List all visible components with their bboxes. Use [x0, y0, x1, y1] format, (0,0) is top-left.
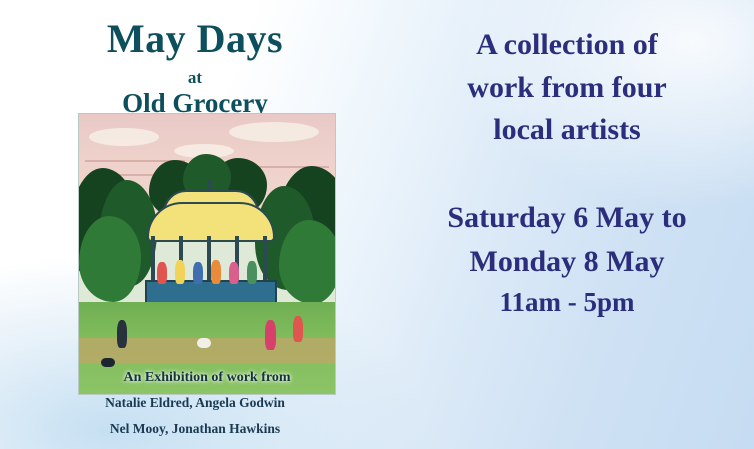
dates-line-3: 11am - 5pm [380, 283, 754, 322]
poster-image: May Days at Old Grocery 6-8 May 11am-5pm [0, 0, 754, 449]
artist-list-line-1: Natalie Eldred, Angela Godwin [0, 390, 390, 416]
person-figure [265, 320, 276, 350]
person-figure [193, 262, 203, 284]
person-figure [157, 262, 167, 284]
artist-list: Natalie Eldred, Angela Godwin Nel Mooy, … [0, 390, 390, 441]
person-figure [293, 316, 303, 342]
headline-line-3: local artists [380, 109, 754, 152]
person-figure [247, 261, 257, 284]
dog-figure [101, 358, 115, 367]
bandstand-column [263, 236, 267, 282]
artwork-caption: An Exhibition of work from [79, 370, 335, 386]
event-flyer: May Days at Old Grocery 6-8 May 11am-5pm [0, 0, 390, 449]
headline-line-2: work from four [380, 67, 754, 110]
person-figure [229, 262, 239, 284]
cloud-shape [89, 128, 159, 146]
tree-shape [79, 216, 141, 302]
tree-shape [279, 220, 336, 304]
dog-figure [197, 338, 211, 348]
headline-line-1: A collection of [380, 24, 754, 67]
dates-block: Saturday 6 May to Monday 8 May 11am - 5p… [380, 196, 754, 322]
person-figure [211, 260, 221, 284]
headline-block: A collection of work from four local art… [380, 24, 754, 152]
dates-line-1: Saturday 6 May to [380, 196, 754, 240]
flyer-at-label: at [0, 68, 390, 88]
bandstand-column [151, 236, 155, 282]
poster-text-panel: A collection of work from four local art… [380, 0, 754, 449]
cloud-shape [229, 122, 319, 142]
artist-list-line-2: Nel Mooy, Jonathan Hawkins [0, 416, 390, 442]
person-figure [175, 260, 185, 284]
bandstand-artwork: An Exhibition of work from [78, 113, 336, 395]
flyer-title: May Days [0, 18, 390, 60]
person-figure [117, 320, 127, 348]
dates-line-2: Monday 8 May [380, 240, 754, 284]
